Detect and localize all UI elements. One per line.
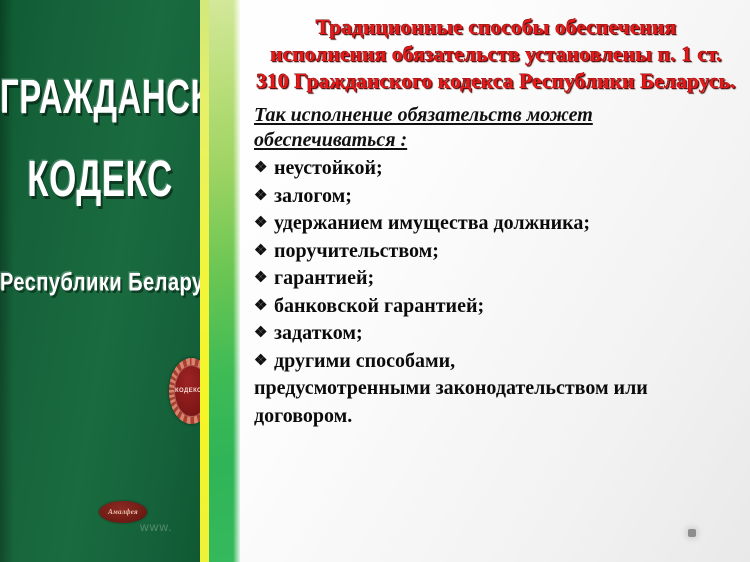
book-cover-line-2: КОДЕКС: [0, 151, 200, 209]
list-item-label: задатком;: [274, 320, 738, 348]
diamond-bullet-icon: ❖: [254, 210, 274, 238]
seal-label: КОДЕКСЫ: [169, 388, 200, 394]
diamond-bullet-icon: ❖: [254, 238, 274, 266]
slide-title: Традиционные способы обеспечения исполне…: [256, 14, 736, 95]
list-item-label: удержанием имущества должника;: [274, 210, 738, 238]
book-cover-image: ГРАЖДАНСКИЙ КОДЕКС Республики Беларусь К…: [0, 0, 200, 562]
yellow-divider-band: [200, 0, 209, 562]
list-item-label: гарантией;: [274, 265, 738, 293]
green-gradient-band: [209, 0, 240, 562]
list-item: ❖ задатком;: [254, 320, 738, 348]
decorative-dot-icon: [688, 529, 696, 537]
diamond-bullet-icon: ❖: [254, 348, 274, 376]
list-item: ❖ другими способами,: [254, 348, 738, 376]
diamond-bullet-icon: ❖: [254, 183, 274, 211]
slide-canvas: ГРАЖДАНСКИЙ КОДЕКС Республики Беларусь К…: [0, 0, 750, 562]
book-cover-line-3: Республики Беларусь: [0, 269, 200, 298]
list-item-label: другими способами,: [274, 348, 738, 376]
seal-badge-icon: КОДЕКСЫ: [169, 358, 200, 424]
list-item: ❖ залогом;: [254, 183, 738, 211]
list-item-label: неустойкой;: [274, 155, 738, 183]
lead-in-text: Так исполнение обязательств может обеспе…: [254, 103, 738, 153]
diamond-bullet-icon: ❖: [254, 293, 274, 321]
book-cover-line-1: ГРАЖДАНСКИЙ: [0, 69, 200, 124]
publisher-logo-label: Амалфея: [108, 508, 138, 516]
list-item: ❖ неустойкой;: [254, 155, 738, 183]
list-item-label: поручительством;: [274, 238, 738, 266]
cover-watermark: www.: [140, 520, 173, 534]
list-item: ❖ гарантией;: [254, 265, 738, 293]
closing-text: предусмотренными законодательством или д…: [254, 375, 738, 430]
list-item: ❖ удержанием имущества должника;: [254, 210, 738, 238]
diamond-bullet-icon: ❖: [254, 320, 274, 348]
list-item-label: залогом;: [274, 183, 738, 211]
list-item: ❖ поручительством;: [254, 238, 738, 266]
list-item: ❖ банковской гарантией;: [254, 293, 738, 321]
methods-list: ❖ неустойкой; ❖ залогом; ❖ удержанием им…: [254, 155, 738, 375]
slide-content: Традиционные способы обеспечения исполне…: [240, 0, 750, 562]
diamond-bullet-icon: ❖: [254, 265, 274, 293]
diamond-bullet-icon: ❖: [254, 155, 274, 183]
list-item-label: банковской гарантией;: [274, 293, 738, 321]
